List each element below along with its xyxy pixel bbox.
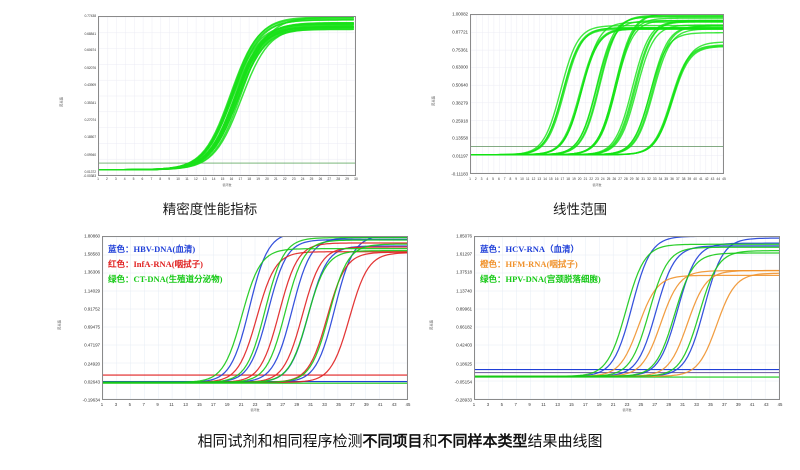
y-tick-label: 1.13740 [456, 288, 472, 293]
y-tick-label: 0.68841 [84, 32, 96, 36]
x-tick-label: 23 [292, 177, 296, 181]
x-tick-label: 11 [526, 177, 529, 181]
x-tick-label: 7 [515, 402, 517, 407]
figure-main-caption: 相同试剂和相同程序检测不同项目和不同样本类型结果曲线图 [0, 430, 800, 451]
x-tick-label: 33 [653, 177, 657, 181]
x-axis-title: 循环数 [222, 183, 231, 187]
y-tick-label: 0.66182 [456, 325, 472, 330]
x-tick-label: 44 [716, 177, 720, 181]
x-tick-label: 29 [666, 402, 671, 407]
x-tick-label: 27 [280, 402, 285, 407]
x-tick-label: 35 [336, 402, 341, 407]
y-tick-label: 0.42403 [456, 343, 472, 348]
y-axis-title: 荧光值 [56, 320, 61, 330]
chart-panel-multi-sample: 1.850761.612971.375181.137400.899610.661… [430, 234, 782, 416]
plot-area-top-right [470, 14, 724, 174]
x-tick-label: 17 [561, 177, 565, 181]
y-tick-label: 0.13558 [452, 136, 468, 141]
x-tick-label: 23 [253, 402, 258, 407]
x-tick-label: 34 [659, 177, 663, 181]
x-tick-label: 32 [647, 177, 651, 181]
x-tick-label: 41 [699, 177, 703, 181]
x-tick-label: 16 [555, 177, 559, 181]
x-tick-label: 30 [354, 177, 358, 181]
x-tick-label: 21 [611, 402, 616, 407]
x-tick-label: 24 [601, 177, 605, 181]
x-tick-label: 41 [750, 402, 755, 407]
x-tick-label: 2 [106, 177, 108, 181]
x-tick-label: 43 [764, 402, 769, 407]
y-tick-label: 0.60674 [84, 48, 96, 52]
legend-item-3: 绿色：HPV-DNA(宫颈脱落细胞) [480, 272, 601, 287]
y-tick-label: 0.47197 [84, 343, 100, 348]
chart-panel-linearity: 1.000820.877210.753610.630000.506400.382… [432, 10, 728, 192]
y-tick-label: 0.35341 [84, 101, 96, 105]
legend-item-2: 红色：InfA-RNA(咽拭子) [108, 257, 222, 272]
y-tick-label: 1.80860 [84, 234, 100, 239]
y-tick-label: 1.14029 [84, 288, 100, 293]
caption-part-3: 不同样本类型 [438, 432, 528, 450]
x-tick-label: 23 [625, 402, 630, 407]
y-axis-top-left: 0.774380.688410.606740.520760.439090.353… [60, 12, 98, 192]
x-tick-label: 16 [230, 177, 234, 181]
y-tick-label: 0.01197 [452, 154, 468, 159]
x-tick-label: 25 [607, 177, 611, 181]
x-tick-label: 41 [378, 402, 383, 407]
y-tick-label: 0.02643 [84, 379, 100, 384]
legend-item-1: 蓝色：HBV-DNA(血清) [108, 242, 222, 257]
x-tick-label: 9 [168, 177, 170, 181]
y-tick-label: -0.28933 [455, 398, 472, 403]
x-tick-label: 39 [364, 402, 369, 407]
x-tick-label: 21 [239, 402, 244, 407]
y-tick-label: -0.19634 [83, 398, 100, 403]
x-axis-bottom-left: 1357911131517192123252729313335373941434… [102, 402, 408, 414]
y-tick-label: 0.75361 [452, 47, 468, 52]
x-tick-label: 39 [688, 177, 692, 181]
x-tick-label: 19 [597, 402, 602, 407]
x-tick-label: 28 [624, 177, 628, 181]
x-tick-label: 19 [256, 177, 260, 181]
x-tick-label: 33 [322, 402, 327, 407]
x-tick-label: 28 [336, 177, 340, 181]
x-tick-label: 22 [283, 177, 287, 181]
x-tick-label: 6 [498, 177, 500, 181]
x-tick-label: 2 [475, 177, 477, 181]
y-tick-label: 1.85076 [456, 234, 472, 239]
x-tick-label: 43 [392, 402, 397, 407]
x-tick-label: 29 [630, 177, 634, 181]
x-tick-label: 12 [194, 177, 198, 181]
legend-bottom-right: 蓝色：HCV-RNA（血清）橙色：HFM-RNA(咽拭子)绿色：HPV-DNA(… [480, 242, 601, 287]
x-tick-label: 3 [487, 402, 489, 407]
y-tick-label: 1.61297 [456, 252, 472, 257]
x-tick-label: 33 [694, 402, 699, 407]
y-axis-bottom-right: 1.850761.612971.375181.137400.899610.661… [430, 234, 474, 416]
x-tick-label: 45 [778, 402, 783, 407]
x-tick-label: 13 [183, 402, 188, 407]
legend-item-1: 蓝色：HCV-RNA（血清） [480, 242, 601, 257]
y-tick-label: 0.91752 [84, 306, 100, 311]
x-tick-label: 27 [652, 402, 657, 407]
x-tick-label: 15 [221, 177, 225, 181]
y-tick-label: 0.52076 [84, 66, 96, 70]
x-tick-label: 30 [636, 177, 640, 181]
x-tick-label: 29 [345, 177, 349, 181]
y-axis-title: 荧光值 [430, 96, 435, 106]
x-tick-label: 20 [578, 177, 582, 181]
x-tick-label: 25 [310, 177, 314, 181]
y-tick-label: 0.89961 [456, 306, 472, 311]
legend-item-3: 绿色：CT-DNA(生殖道分泌物) [108, 272, 222, 287]
x-tick-label: 37 [676, 177, 680, 181]
x-tick-label: 35 [664, 177, 668, 181]
x-tick-label: 35 [708, 402, 713, 407]
x-tick-label: 24 [301, 177, 305, 181]
x-tick-label: 26 [319, 177, 323, 181]
x-tick-label: 43 [711, 177, 715, 181]
x-tick-label: 10 [520, 177, 524, 181]
y-axis-title: 荧光值 [428, 320, 433, 330]
x-tick-label: 13 [203, 177, 207, 181]
x-tick-label: 25 [639, 402, 644, 407]
y-tick-label: 0.24920 [84, 361, 100, 366]
x-tick-label: 14 [212, 177, 216, 181]
x-tick-label: 10 [176, 177, 180, 181]
x-tick-label: 42 [705, 177, 709, 181]
legend-item-2: 橙色：HFM-RNA(咽拭子) [480, 257, 601, 272]
y-tick-label: 0.38279 [452, 100, 468, 105]
x-tick-label: 11 [541, 402, 545, 407]
x-tick-label: 4 [124, 177, 126, 181]
x-tick-label: 27 [327, 177, 331, 181]
x-tick-label: 21 [274, 177, 278, 181]
y-tick-label: 0.77438 [84, 14, 96, 18]
x-tick-label: 3 [481, 177, 483, 181]
y-tick-label: 0.63000 [452, 65, 468, 70]
figure-root: 0.774380.688410.606740.520760.439090.353… [0, 0, 800, 470]
x-tick-label: 1 [473, 402, 475, 407]
x-tick-label: 45 [406, 402, 411, 407]
x-axis-title: 循环数 [622, 408, 631, 412]
y-tick-label: 0.25918 [452, 118, 468, 123]
x-tick-label: 37 [350, 402, 355, 407]
x-tick-label: 1 [101, 402, 103, 407]
caption-part-4: 结果曲线图 [528, 432, 603, 450]
x-tick-label: 22 [589, 177, 593, 181]
y-tick-label: 0.69475 [84, 325, 100, 330]
y-tick-label: 0.27074 [84, 118, 96, 122]
x-tick-label: 17 [211, 402, 216, 407]
caption-part-0: 相同试剂和相同程序检测 [197, 432, 362, 450]
y-axis-bottom-left: 1.808601.585831.363061.140290.917520.694… [58, 234, 102, 416]
x-tick-label: 9 [515, 177, 517, 181]
x-axis-bottom-right: 1357911131517192123252729313335373941434… [474, 402, 780, 414]
x-tick-label: 1 [97, 177, 99, 181]
x-tick-label: 18 [247, 177, 251, 181]
y-tick-label: 0.43909 [84, 83, 96, 87]
chart-panel-precision: 0.774380.688410.606740.520760.439090.353… [60, 12, 360, 192]
x-tick-label: 13 [555, 402, 560, 407]
x-tick-label: 19 [572, 177, 576, 181]
x-tick-label: 7 [504, 177, 506, 181]
x-axis-top-right: 1234567891011121314151617181920212223242… [470, 177, 724, 189]
x-tick-label: 15 [197, 402, 202, 407]
x-tick-label: 26 [612, 177, 616, 181]
x-tick-label: 9 [156, 402, 158, 407]
x-tick-label: 20 [265, 177, 269, 181]
x-tick-label: 8 [159, 177, 161, 181]
y-tick-label: 1.58583 [84, 252, 100, 257]
caption-precision: 精密度性能指标 [60, 198, 360, 218]
x-tick-label: 36 [670, 177, 674, 181]
x-tick-label: 21 [584, 177, 588, 181]
x-tick-label: 7 [143, 402, 145, 407]
x-tick-label: 27 [618, 177, 622, 181]
x-tick-label: 8 [509, 177, 511, 181]
x-tick-label: 17 [583, 402, 588, 407]
y-tick-label: -0.11183 [451, 172, 468, 177]
x-tick-label: 11 [169, 402, 173, 407]
x-tick-label: 14 [543, 177, 547, 181]
x-axis-title: 循环数 [250, 408, 259, 412]
y-tick-label: 0.09940 [84, 153, 96, 157]
x-tick-label: 38 [682, 177, 686, 181]
y-tick-label: -0.05154 [455, 379, 472, 384]
x-tick-label: 9 [528, 402, 530, 407]
x-tick-label: 4 [486, 177, 488, 181]
x-tick-label: 5 [492, 177, 494, 181]
x-tick-label: 37 [722, 402, 727, 407]
x-tick-label: 3 [115, 177, 117, 181]
y-tick-label: 0.87721 [452, 29, 468, 34]
x-tick-label: 31 [680, 402, 685, 407]
y-tick-label: 1.36306 [84, 270, 100, 275]
y-axis-title: 荧光值 [58, 97, 63, 107]
caption-part-1: 不同项目 [362, 432, 422, 450]
chart-panel-multi-target: 1.808601.585831.363061.140290.917520.694… [58, 234, 410, 416]
x-tick-label: 15 [569, 402, 574, 407]
x-tick-label: 5 [501, 402, 503, 407]
x-tick-label: 39 [736, 402, 741, 407]
x-tick-label: 23 [595, 177, 599, 181]
x-tick-label: 6 [142, 177, 144, 181]
y-tick-label: 1.00082 [452, 12, 468, 17]
x-axis-title: 循环数 [592, 183, 601, 187]
y-tick-label: -0.00383 [83, 174, 96, 178]
x-tick-label: 3 [115, 402, 117, 407]
x-tick-label: 5 [133, 177, 135, 181]
x-tick-label: 18 [566, 177, 570, 181]
x-tick-label: 31 [308, 402, 313, 407]
x-tick-label: 7 [150, 177, 152, 181]
x-tick-label: 15 [549, 177, 553, 181]
caption-linearity: 线性范围 [432, 198, 728, 218]
legend-bottom-left: 蓝色：HBV-DNA(血清)红色：InfA-RNA(咽拭子)绿色：CT-DNA(… [108, 242, 222, 287]
x-tick-label: 11 [185, 177, 188, 181]
x-axis-top-left: 1234567891011121314151617181920212223242… [98, 177, 356, 189]
x-tick-label: 25 [267, 402, 272, 407]
x-tick-label: 45 [722, 177, 726, 181]
y-tick-label: 0.50640 [452, 83, 468, 88]
x-tick-label: 19 [225, 402, 230, 407]
y-tick-label: 0.18507 [84, 135, 96, 139]
x-tick-label: 13 [537, 177, 541, 181]
x-tick-label: 17 [239, 177, 243, 181]
x-tick-label: 1 [469, 177, 471, 181]
caption-part-2: 和 [422, 432, 437, 450]
x-tick-label: 31 [641, 177, 645, 181]
x-tick-label: 12 [532, 177, 536, 181]
x-tick-label: 5 [129, 402, 131, 407]
plot-area-top-left [98, 16, 356, 176]
y-tick-label: 0.18625 [456, 361, 472, 366]
x-tick-label: 40 [693, 177, 697, 181]
x-tick-label: 29 [294, 402, 299, 407]
y-axis-top-right: 1.000820.877210.753610.630000.506400.382… [432, 10, 470, 192]
y-tick-label: 1.37518 [456, 270, 472, 275]
